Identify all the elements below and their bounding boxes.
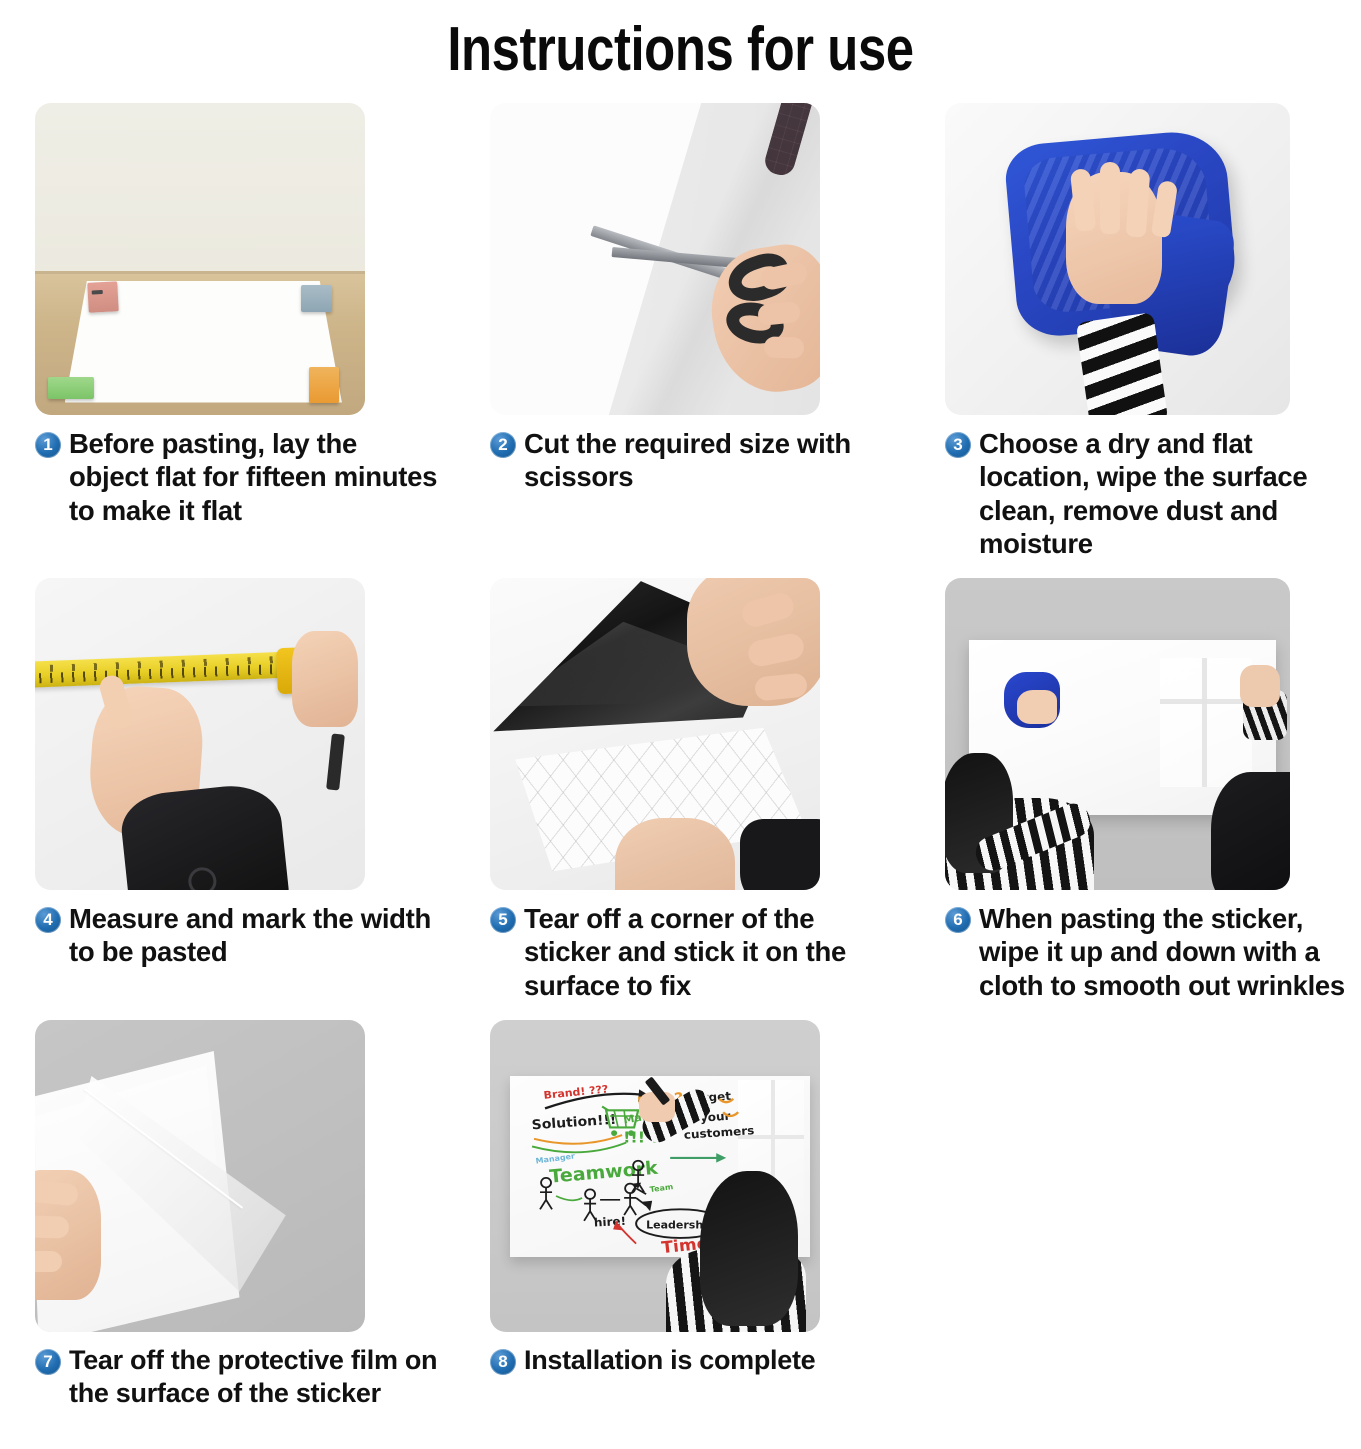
step-card-5: 5 Tear off a corner of the sticker and s…	[455, 578, 910, 1002]
step-5-photo	[490, 578, 820, 890]
step-3-text: Choose a dry and flat location, wipe the…	[979, 427, 1347, 560]
step-7-text: Tear off the protective film on the surf…	[69, 1344, 441, 1409]
step-card-7: 7 Tear off the protective film on the su…	[0, 1020, 455, 1409]
book-blue	[301, 285, 332, 312]
finger	[1100, 162, 1120, 234]
step-number-badge-3: 3	[945, 432, 971, 458]
step-3-caption: 3 Choose a dry and flat location, wipe t…	[945, 427, 1351, 560]
step-1-photo	[35, 103, 365, 415]
step-4-photo	[35, 578, 365, 890]
step-8-caption: 8 Installation is complete	[490, 1344, 900, 1377]
hand-right	[292, 631, 358, 727]
step-card-6: 6 When pasting the sticker, wipe it up a…	[910, 578, 1361, 1002]
book-pink	[87, 281, 119, 313]
step-2-caption: 2 Cut the required size with scissors	[490, 427, 900, 494]
step-4-text: Measure and mark the width to be pasted	[69, 902, 441, 969]
step-number-badge-4: 4	[35, 907, 61, 933]
page-title: Instructions for use	[122, 0, 1238, 85]
step-number-badge-5: 5	[490, 907, 516, 933]
steps-row-3: 7 Tear off the protective film on the su…	[0, 1020, 1361, 1409]
step-7-caption: 7 Tear off the protective film on the su…	[35, 1344, 445, 1409]
finger	[35, 1216, 69, 1240]
note-manager: Manager	[535, 1152, 576, 1166]
step-number-badge-2: 2	[490, 432, 516, 458]
step-6-text: When pasting the sticker, wipe it up and…	[979, 902, 1347, 1002]
step-1-text: Before pasting, lay the object flat for …	[69, 427, 441, 527]
dark-hair	[700, 1171, 798, 1326]
helper-person	[1211, 772, 1290, 891]
step-1-caption: 1 Before pasting, lay the object flat fo…	[35, 427, 445, 527]
step-card-4: 4 Measure and mark the width to be paste…	[0, 578, 455, 1002]
step-5-caption: 5 Tear off a corner of the sticker and s…	[490, 902, 900, 1002]
steps-row-1: 1 Before pasting, lay the object flat fo…	[0, 103, 1361, 560]
step-2-photo	[490, 103, 820, 415]
step-2-text: Cut the required size with scissors	[524, 427, 896, 494]
steps-row-2: 4 Measure and mark the width to be paste…	[0, 578, 1361, 1002]
step-4-caption: 4 Measure and mark the width to be paste…	[35, 902, 445, 969]
marker-pen	[326, 734, 345, 791]
step-number-badge-8: 8	[490, 1349, 516, 1375]
instructions-infographic: Instructions for use 1 Before pasting, l…	[0, 0, 1361, 1449]
finger	[35, 1251, 62, 1272]
note-hire: hire!	[593, 1214, 626, 1229]
step-number-badge-7: 7	[35, 1349, 61, 1375]
note-team: Team	[649, 1182, 674, 1194]
step-8-photo: Brand! ??? Solution!!! how?	[490, 1020, 820, 1332]
note-solution: Solution!!!	[531, 1112, 617, 1133]
step-7-photo	[35, 1020, 365, 1332]
step-card-3: 3 Choose a dry and flat location, wipe t…	[910, 103, 1361, 560]
book-green	[48, 377, 94, 399]
step-8-text: Installation is complete	[524, 1344, 815, 1377]
woman-applying	[945, 703, 1083, 890]
step-6-caption: 6 When pasting the sticker, wipe it up a…	[945, 902, 1351, 1002]
hand-right	[1240, 665, 1280, 707]
finger	[763, 336, 804, 358]
window-reflection	[1160, 658, 1252, 787]
step-card-8: Brand! ??? Solution!!! how?	[455, 1020, 910, 1409]
black-cuff	[740, 819, 820, 890]
step-number-badge-6: 6	[945, 907, 971, 933]
hand-left	[1017, 690, 1057, 724]
striped-sleeve	[1076, 313, 1169, 415]
woman-writing	[681, 1113, 813, 1331]
empty-cell	[910, 1020, 1361, 1409]
step-5-text: Tear off a corner of the sticker and sti…	[524, 902, 896, 1002]
step-card-2: 2 Cut the required size with scissors	[455, 103, 910, 560]
step-6-photo	[945, 578, 1290, 890]
step-3-photo	[945, 103, 1290, 415]
step-number-badge-1: 1	[35, 432, 61, 458]
book-orange	[309, 367, 339, 403]
step-card-1: 1 Before pasting, lay the object flat fo…	[0, 103, 455, 560]
hand-lower	[615, 818, 735, 891]
